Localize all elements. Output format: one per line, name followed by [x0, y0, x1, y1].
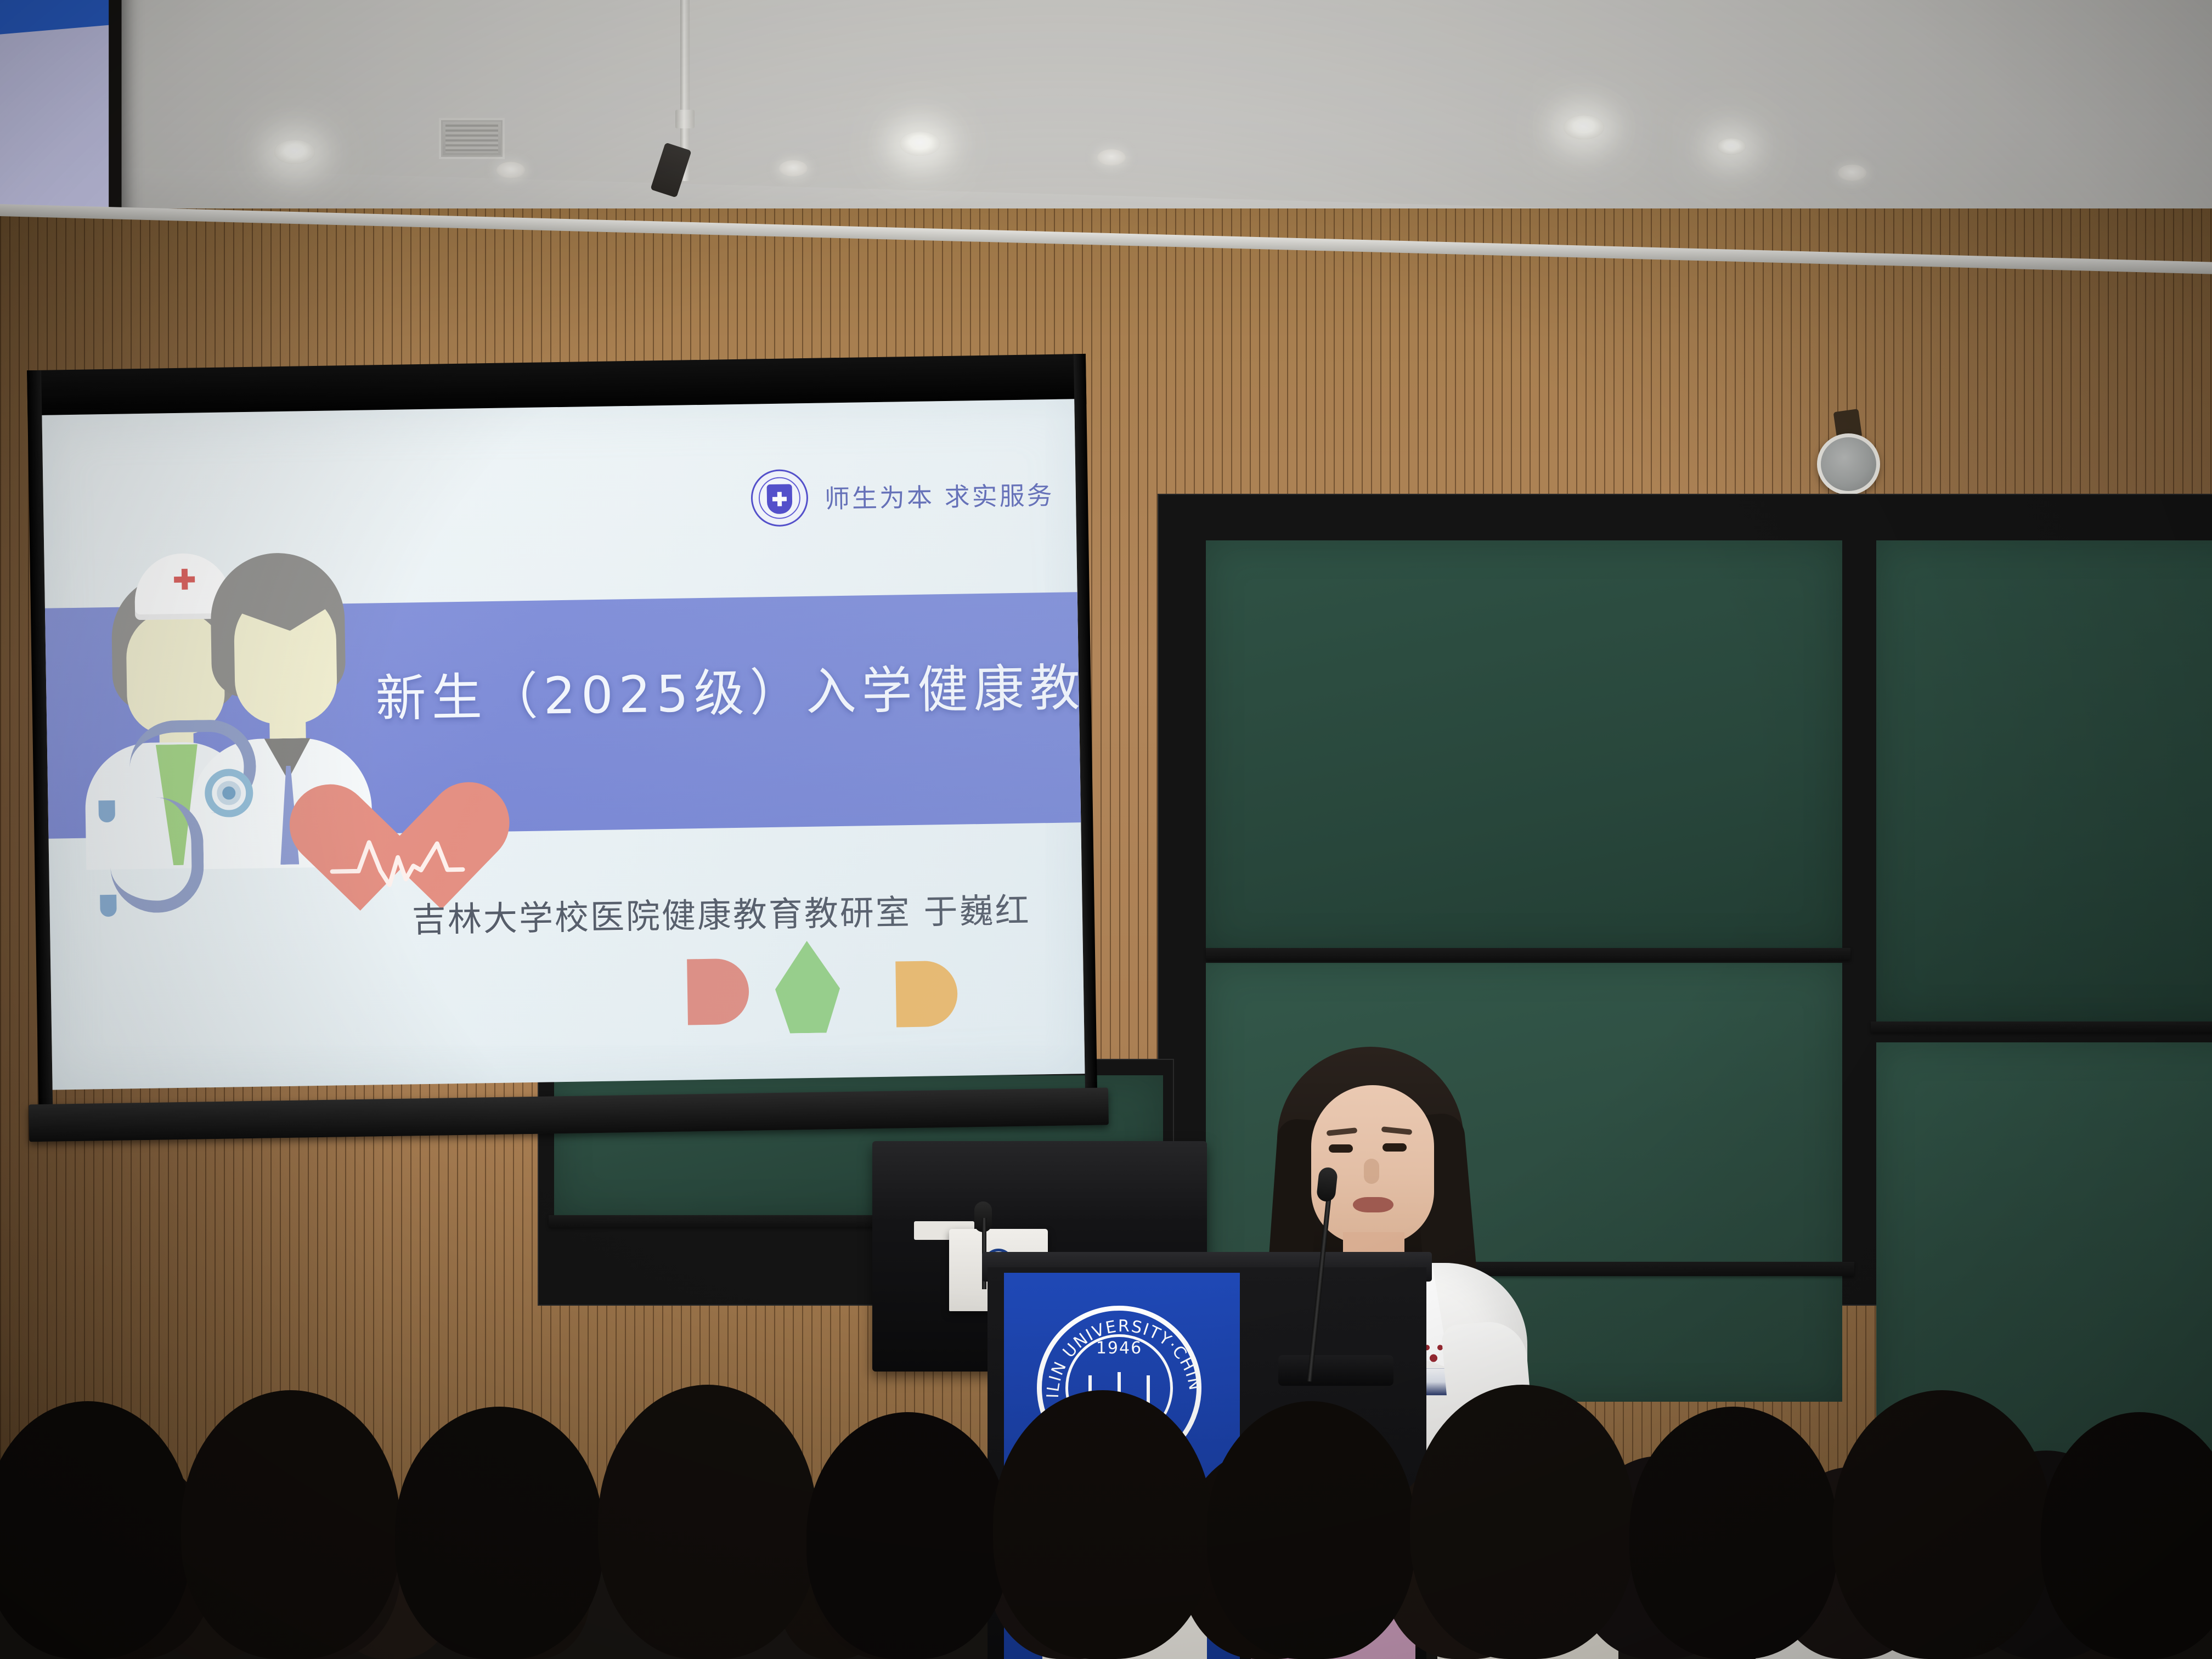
presenter-eye-right [1383, 1143, 1407, 1152]
blackboard-panel [1206, 540, 1842, 952]
projection-screen: 师生为本 求实服务 [27, 354, 1098, 1138]
hvac-vent-icon [439, 118, 505, 159]
presenter-mouth [1353, 1197, 1393, 1212]
ceiling-downlight [274, 140, 315, 164]
green-capsule-icon [775, 940, 841, 1034]
audience-head [181, 1390, 400, 1659]
audience-head [993, 1390, 1212, 1659]
ecg-line-icon [329, 831, 465, 899]
red-capsule-icon [687, 958, 749, 1025]
medical-cross-shield-icon [767, 484, 793, 514]
red-cross-icon [174, 568, 195, 590]
wall-speaker [1817, 433, 1880, 495]
audience-head [1832, 1390, 2052, 1659]
ceiling-downlight [496, 162, 525, 178]
chalk-tray [1206, 948, 1850, 960]
orange-capsule-icon [895, 961, 958, 1028]
audience-head [0, 1401, 192, 1659]
presentation-slide: 师生为本 求实服务 [42, 399, 1085, 1090]
stethoscope-tube [109, 797, 204, 913]
audience-head [806, 1412, 1009, 1659]
ceiling-downlight [1717, 138, 1746, 155]
presenter-nose [1364, 1159, 1379, 1184]
chalk-tray [1871, 1022, 2212, 1032]
projector-mount-collar [675, 110, 695, 128]
ceiling-downlight [900, 132, 940, 156]
presenter-eye-left [1329, 1144, 1353, 1153]
ceiling-downlight [1564, 115, 1604, 139]
blackboard-panel [1876, 540, 2212, 1023]
slide-title: 新生（2025级）入学健康教育讲座 [375, 647, 1051, 731]
ceiling-downlight [1838, 165, 1866, 181]
audience [0, 1242, 2212, 1659]
slide-logo-row: 师生为本 求实服务 [751, 465, 1054, 527]
audience-head [598, 1385, 817, 1659]
audience-head [1410, 1385, 1635, 1659]
audience-head [2041, 1412, 2212, 1659]
audience-head [395, 1407, 603, 1659]
ceiling-downlight [1097, 149, 1126, 166]
audience-head [1629, 1407, 1838, 1659]
ceiling-downlight [779, 160, 808, 177]
stethoscope-earpiece [100, 895, 117, 917]
stethoscope-earpiece [98, 800, 115, 822]
jilin-university-hospital-emblem-icon [751, 469, 809, 527]
audience-head [1207, 1401, 1415, 1659]
slide-subtitle: 吉林大学校医院健康教育教研室 于巍红 [411, 882, 1043, 941]
lecture-hall-photo: 师生为本 求实服务 [0, 0, 2212, 1659]
slide-logo-slogan: 师生为本 求实服务 [824, 476, 1054, 516]
